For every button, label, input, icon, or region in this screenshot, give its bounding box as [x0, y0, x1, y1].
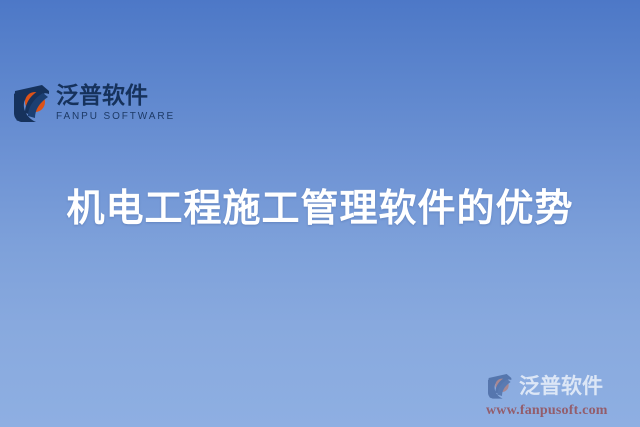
watermark: 泛普软件 www.fanpusoft.com	[484, 371, 632, 419]
fanpu-logo-watermark-icon	[484, 372, 516, 400]
brand-name-cn: 泛普软件	[56, 83, 175, 109]
watermark-name-cn: 泛普软件	[519, 374, 603, 398]
brand-logo: 泛普软件 FANPU SOFTWARE	[12, 82, 175, 124]
brand-name-en: FANPU SOFTWARE	[56, 110, 175, 124]
fanpu-logo-icon	[12, 82, 52, 124]
promo-banner: 泛普软件 FANPU SOFTWARE 机电工程施工管理软件的优势 泛普软件 w…	[0, 0, 640, 427]
brand-wordmark: 泛普软件 FANPU SOFTWARE	[56, 83, 175, 124]
watermark-logo-row: 泛普软件	[484, 371, 632, 401]
watermark-url: www.fanpusoft.com	[486, 402, 632, 419]
page-title: 机电工程施工管理软件的优势	[0, 186, 640, 230]
